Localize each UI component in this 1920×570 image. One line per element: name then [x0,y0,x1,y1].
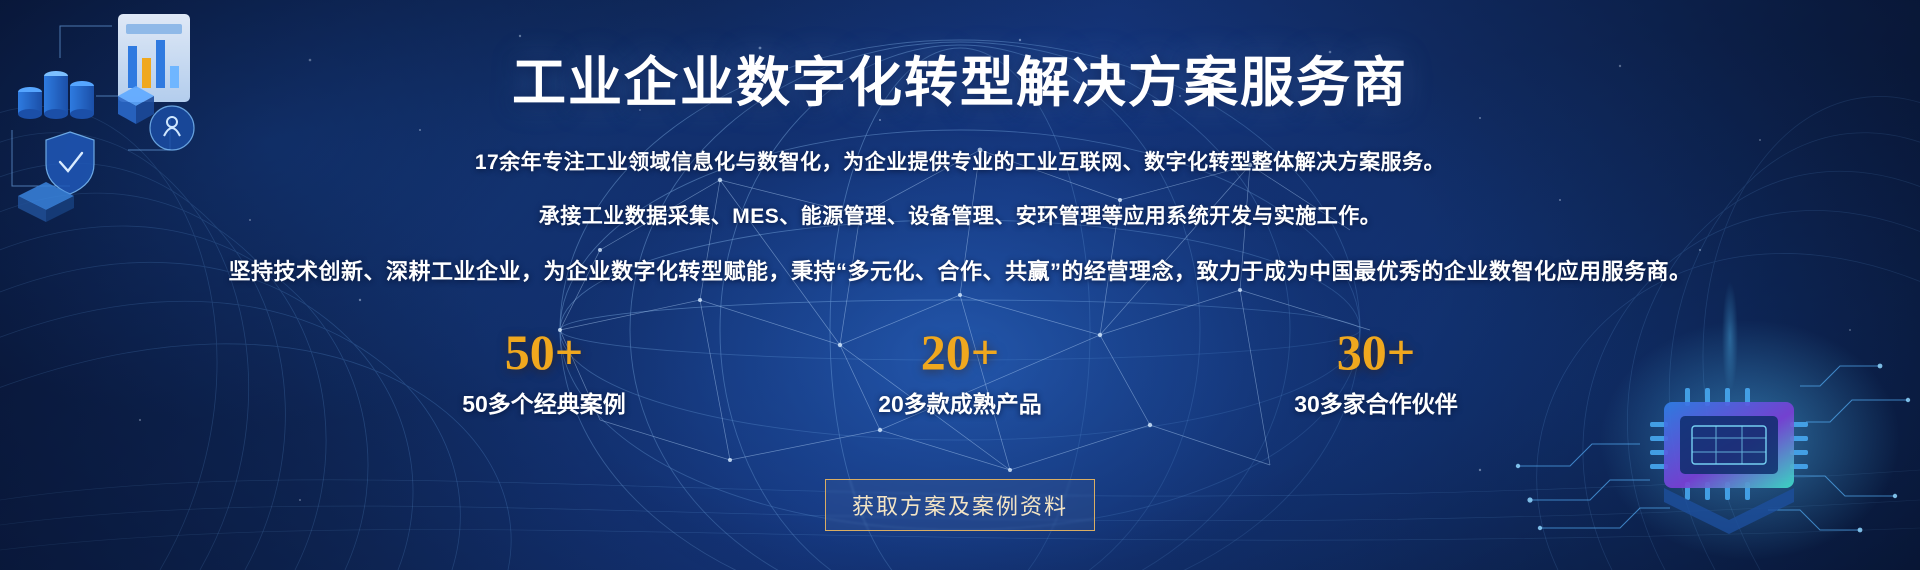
stat-item-cases: 50+ 50多个经典案例 [424,326,664,419]
banner-content: 工业企业数字化转型解决方案服务商 17余年专注工业领域信息化与数智化，为企业提供… [0,0,1920,570]
stat-number: 50+ [424,326,664,379]
stat-item-products: 20+ 20多款成熟产品 [840,326,1080,419]
stat-item-partners: 30+ 30多家合作伙伴 [1256,326,1496,419]
cta-container: 获取方案及案例资料 [0,479,1920,531]
subtitle-line-1: 17余年专注工业领域信息化与数智化，为企业提供专业的工业互联网、数字化转型整体解… [0,146,1920,176]
stats-row: 50+ 50多个经典案例 20+ 20多款成熟产品 30+ 30多家合作伙伴 [0,326,1920,419]
stat-number: 30+ [1256,326,1496,379]
page-title: 工业企业数字化转型解决方案服务商 [0,38,1920,117]
get-materials-button[interactable]: 获取方案及案例资料 [825,479,1095,531]
stat-label: 20多款成熟产品 [840,385,1080,419]
stat-label: 30多家合作伙伴 [1256,385,1496,419]
hero-banner: 工业企业数字化转型解决方案服务商 17余年专注工业领域信息化与数智化，为企业提供… [0,0,1920,570]
subtitle-line-3: 坚持技术创新、深耕工业企业，为企业数字化转型赋能，秉持“多元化、合作、共赢”的经… [0,254,1920,286]
subtitle-line-2: 承接工业数据采集、MES、能源管理、设备管理、安环管理等应用系统开发与实施工作。 [0,200,1920,230]
stat-number: 20+ [840,326,1080,379]
stat-label: 50多个经典案例 [424,385,664,419]
